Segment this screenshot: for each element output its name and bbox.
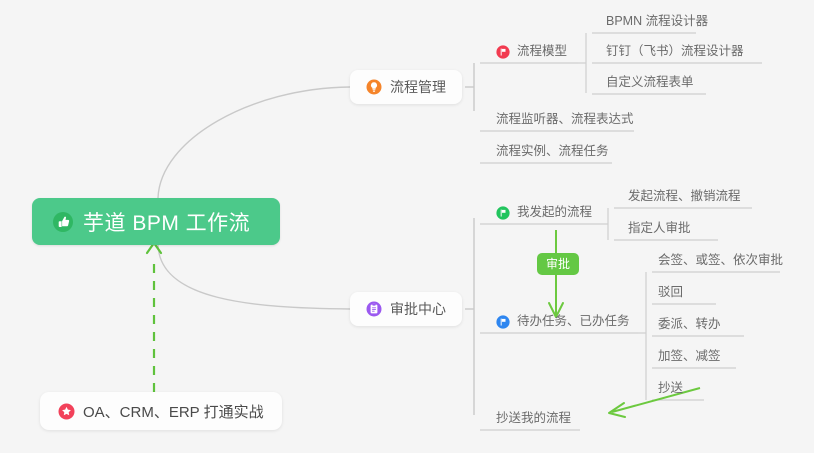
branch-label-process-management: 流程管理 <box>390 77 446 97</box>
flag-icon <box>496 206 510 220</box>
node-dingtalk-designer[interactable]: 钉钉（飞书）流程设计器 <box>600 43 750 65</box>
node-label: 流程实例、流程任务 <box>496 143 609 160</box>
node-label: 加签、减签 <box>658 348 721 365</box>
node-label: 委派、转办 <box>658 316 721 333</box>
callout-node[interactable]: OA、CRM、ERP 打通实战 <box>40 392 282 430</box>
flag-icon <box>496 45 510 59</box>
node-process-listener[interactable]: 流程监听器、流程表达式 <box>490 111 640 133</box>
star-icon <box>58 403 75 420</box>
node-delegate-transfer[interactable]: 委派、转办 <box>652 316 727 338</box>
node-label: 抄送我的流程 <box>496 410 571 427</box>
root-node[interactable]: 芋道 BPM 工作流 <box>32 198 280 245</box>
callout-label: OA、CRM、ERP 打通实战 <box>83 401 264 422</box>
node-my-started-process[interactable]: 我发起的流程 <box>490 204 598 226</box>
node-label: 流程监听器、流程表达式 <box>496 111 634 128</box>
node-carbon-copy[interactable]: 抄送 <box>652 380 689 402</box>
mindmap-canvas: 芋道 BPM 工作流 OA、CRM、ERP 打通实战 流程管理 <box>0 0 814 453</box>
link-root-to-process-management <box>158 87 350 198</box>
node-label: 待办任务、已办任务 <box>517 313 630 330</box>
thumbs-up-icon <box>52 211 74 233</box>
flag-icon <box>496 315 510 329</box>
node-label: 会签、或签、依次审批 <box>658 252 783 269</box>
node-process-instance[interactable]: 流程实例、流程任务 <box>490 143 615 165</box>
node-todo-done-tasks[interactable]: 待办任务、已办任务 <box>490 313 636 335</box>
node-bpmn-designer[interactable]: BPMN 流程设计器 <box>600 13 714 35</box>
node-label: 驳回 <box>658 284 683 301</box>
branch-node-process-management[interactable]: 流程管理 <box>350 70 462 104</box>
branch-node-approval-center[interactable]: 审批中心 <box>350 292 462 326</box>
node-cc-to-me-process[interactable]: 抄送我的流程 <box>490 410 577 432</box>
callout-arrow <box>147 243 161 392</box>
node-label: 发起流程、撤销流程 <box>628 188 741 205</box>
link-root-to-approval-center <box>158 245 350 309</box>
lightbulb-icon <box>366 79 382 95</box>
node-label: 我发起的流程 <box>517 204 592 221</box>
node-custom-form[interactable]: 自定义流程表单 <box>600 74 700 96</box>
node-label: 钉钉（飞书）流程设计器 <box>606 43 744 60</box>
node-reject[interactable]: 驳回 <box>652 284 689 306</box>
node-assignee-approval[interactable]: 指定人审批 <box>622 220 697 242</box>
clipboard-icon <box>366 301 382 317</box>
node-label: 指定人审批 <box>628 220 691 237</box>
node-countersign[interactable]: 会签、或签、依次审批 <box>652 252 789 274</box>
node-label: BPMN 流程设计器 <box>606 13 708 30</box>
node-process-model[interactable]: 流程模型 <box>490 43 573 65</box>
node-add-remove-sign[interactable]: 加签、减签 <box>652 348 727 370</box>
node-label: 流程模型 <box>517 43 567 60</box>
approval-arrow-tag: 审批 <box>537 253 579 275</box>
node-label: 抄送 <box>658 380 683 397</box>
node-label: 自定义流程表单 <box>606 74 694 91</box>
branch-label-approval-center: 审批中心 <box>390 299 446 319</box>
root-label: 芋道 BPM 工作流 <box>83 207 250 237</box>
node-start-cancel-process[interactable]: 发起流程、撤销流程 <box>622 188 747 210</box>
